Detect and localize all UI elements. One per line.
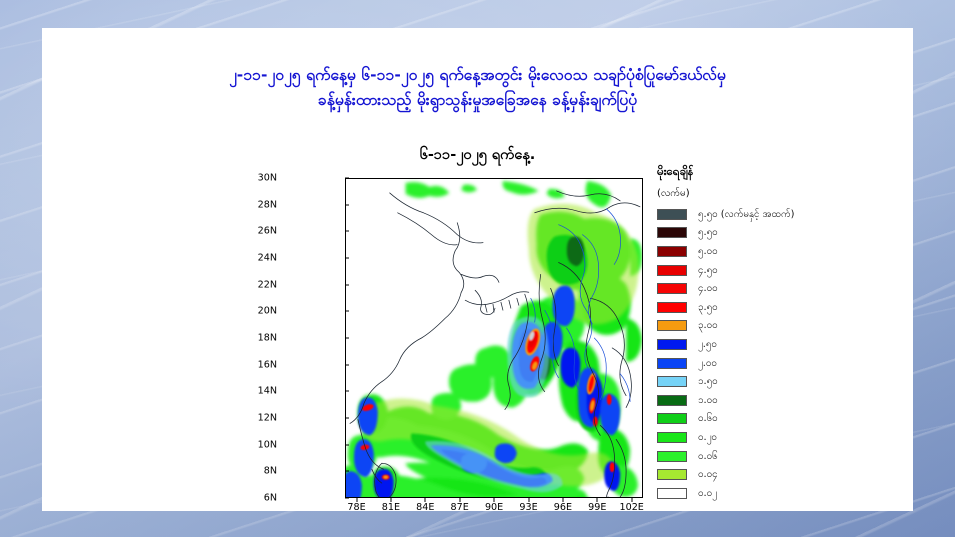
content-card: ၂-၁၁-၂၀၂၅ ရက်နေ့မှ ၆-၁၁-၂၀၂၅ ရက်နေ့အတွင်…: [42, 28, 913, 511]
y-tick-mark: [345, 444, 349, 445]
legend-entry: ၀.၀၄: [657, 465, 842, 484]
x-tick-label: 87E: [451, 502, 469, 513]
y-tick-label: 20N: [258, 306, 277, 317]
x-tick-label: 81E: [382, 502, 400, 513]
y-tick-mark: [345, 178, 349, 179]
legend-entry: ၀.၀၆: [657, 447, 842, 466]
legend-color-swatch: [657, 395, 687, 406]
title-line-1: ၂-၁၁-၂၀၂၅ ရက်နေ့မှ ၆-၁၁-၂၀၂၅ ရက်နေ့အတွင်…: [42, 63, 913, 88]
x-tick-label: 96E: [554, 502, 572, 513]
legend-entry: ၃.၅၀: [657, 298, 842, 317]
x-tick-mark: [631, 498, 632, 502]
legend-entry-label: ၂.၀၀: [698, 356, 717, 371]
legend-entry-label: ၄.၀၀: [698, 281, 718, 296]
legend-entry-label: ၃.၀၀: [698, 318, 718, 333]
legend-title: မိုးရေချိန်: [657, 164, 842, 181]
legend-entry: ၄.၅၀: [657, 261, 842, 280]
x-tick-mark: [597, 498, 598, 502]
legend-color-swatch: [657, 209, 687, 220]
screenshot-root: ၂-၁၁-၂၀၂၅ ရက်နေ့မှ ၆-၁၁-၂၀၂၅ ရက်နေ့အတွင်…: [0, 0, 955, 537]
legend-unit: (လက်မ): [657, 186, 842, 201]
legend-color-swatch: [657, 469, 687, 480]
rainfall-legend: မိုးရေချိန် (လက်မ) ၅.၅၀ (လက်မနှင့် အထက်)…: [657, 164, 842, 503]
legend-color-swatch: [657, 265, 687, 276]
legend-entry: ၅.၀၀: [657, 242, 842, 261]
legend-entry: ၂.၀၀: [657, 354, 842, 373]
y-tick-mark: [345, 391, 349, 392]
legend-entry: ၁.၀၀: [657, 391, 842, 410]
y-tick-mark: [345, 284, 349, 285]
y-tick-label: 28N: [258, 199, 277, 210]
y-tick-mark: [345, 231, 349, 232]
legend-color-swatch: [657, 227, 687, 238]
legend-color-swatch: [657, 432, 687, 443]
legend-color-swatch: [657, 376, 687, 387]
legend-entry: ၂.၅၀: [657, 335, 842, 354]
legend-color-swatch: [657, 413, 687, 424]
legend-entry: ၁.၅၀: [657, 372, 842, 391]
legend-entry-label: ၀.၀၆: [698, 449, 718, 464]
legend-color-swatch: [657, 339, 687, 350]
y-tick-label: 26N: [258, 226, 277, 237]
legend-entry-label: ၄.၅၀: [698, 263, 718, 278]
y-tick-mark: [345, 311, 349, 312]
y-tick-mark: [345, 338, 349, 339]
legend-entry-label: ၁.၅၀: [698, 374, 718, 389]
x-tick-mark: [562, 498, 563, 502]
legend-color-swatch: [657, 451, 687, 462]
y-tick-label: 16N: [258, 359, 277, 370]
legend-color-swatch: [657, 283, 687, 294]
legend-entry-list: ၅.၅၀ (လက်မနှင့် အထက်)၅.၅၀၅.၀၀၄.၅၀၄.၀၀၃.၅…: [657, 205, 842, 503]
y-tick-mark: [345, 258, 349, 259]
legend-entry-label: ၃.၅၀: [698, 300, 718, 315]
legend-entry: ၀.၂၀: [657, 428, 842, 447]
y-tick-label: 18N: [258, 333, 277, 344]
x-tick-mark: [356, 498, 357, 502]
legend-color-swatch: [657, 302, 687, 313]
legend-color-swatch: [657, 488, 687, 499]
y-tick-mark: [345, 204, 349, 205]
legend-entry-label: ၀.၆၀: [698, 411, 718, 426]
y-tick-label: 8N: [264, 466, 277, 477]
page-title: ၂-၁၁-၂၀၂၅ ရက်နေ့မှ ၆-၁၁-၂၀၂၅ ရက်နေ့အတွင်…: [42, 63, 913, 113]
x-tick-label: 78E: [347, 502, 365, 513]
legend-color-swatch: [657, 320, 687, 331]
legend-entry: ၀.၀၂: [657, 484, 842, 503]
x-tick-label: 102E: [620, 502, 644, 513]
legend-entry-label: ၅.၅၀ (လက်မနှင့် အထက်): [698, 207, 794, 222]
x-tick-label: 84E: [416, 502, 434, 513]
x-tick-label: 93E: [519, 502, 537, 513]
legend-entry: ၃.၀၀: [657, 317, 842, 336]
y-tick-mark: [345, 418, 349, 419]
legend-entry-label: ၂.၅၀: [698, 337, 717, 352]
legend-color-swatch: [657, 358, 687, 369]
y-tick-label: 10N: [258, 439, 277, 450]
x-tick-mark: [390, 498, 391, 502]
legend-entry-label: ၅.၅၀: [698, 225, 718, 240]
rainfall-map-plot: [345, 178, 643, 498]
legend-entry-label: ၅.၀၀: [698, 244, 718, 259]
x-tick-label: 99E: [588, 502, 606, 513]
x-tick-mark: [425, 498, 426, 502]
legend-entry: ၄.၀၀: [657, 279, 842, 298]
y-tick-label: 14N: [258, 386, 277, 397]
legend-entry-label: ၀.၀၄: [698, 467, 718, 482]
legend-entry: ၅.၅၀ (လက်မနှင့် အထက်): [657, 205, 842, 224]
legend-entry: ၀.၆၀: [657, 410, 842, 429]
legend-entry-label: ၀.၂၀: [698, 430, 717, 445]
x-tick-mark: [459, 498, 460, 502]
y-tick-label: 30N: [258, 173, 277, 184]
x-tick-mark: [528, 498, 529, 502]
title-line-2: ခန့်မှန်းထားသည့် မိုးရွာသွန်းမှုအခြေအနေ …: [42, 88, 913, 113]
y-tick-label: 22N: [258, 279, 277, 290]
legend-color-swatch: [657, 246, 687, 257]
legend-entry-label: ၀.၀၂: [698, 486, 717, 501]
legend-entry: ၅.၅၀: [657, 224, 842, 243]
y-tick-label: 12N: [258, 413, 277, 424]
rainfall-forecast-figure: 30N 28N 26N 24N 22N 20N 18N 16N 14N 12N …: [282, 144, 842, 499]
y-tick-label: 6N: [264, 493, 277, 504]
y-tick-mark: [345, 498, 349, 499]
y-tick-mark: [345, 364, 349, 365]
x-tick-label: 90E: [485, 502, 503, 513]
y-tick-label: 24N: [258, 253, 277, 264]
x-tick-mark: [494, 498, 495, 502]
legend-entry-label: ၁.၀၀: [698, 393, 718, 408]
y-tick-mark: [345, 471, 349, 472]
rainfall-map-svg: [346, 179, 642, 497]
